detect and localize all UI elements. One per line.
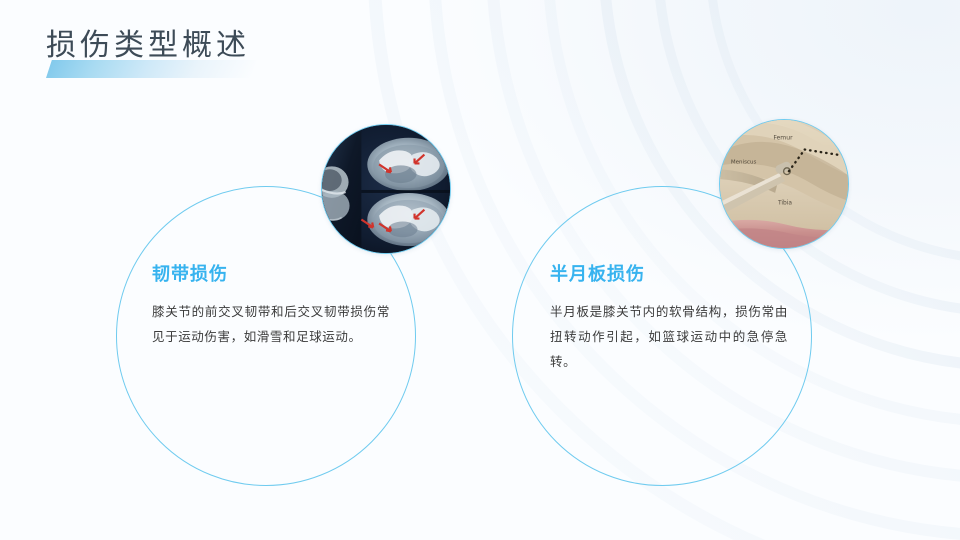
meniscus-injury-title: 半月板损伤	[550, 262, 800, 286]
meniscus-injury-body: 半月板是膝关节内的软骨结构，损伤常由扭转动作引起，如篮球运动中的急停急转。	[550, 300, 788, 375]
slide-canvas: 损伤类型概述	[0, 0, 960, 540]
ligament-injury-card: 韧带损伤 膝关节的前交叉韧带和后交叉韧带损伤常见于运动伤害，如滑雪和足球运动。	[152, 262, 402, 350]
knee-mri-scan-image	[321, 124, 451, 254]
page-title-group: 损伤类型概述	[46, 24, 250, 68]
ligament-injury-title: 韧带损伤	[152, 262, 402, 286]
page-title: 损伤类型概述	[46, 24, 250, 68]
svg-text:Meniscus: Meniscus	[731, 159, 757, 165]
meniscus-injury-card: 半月板损伤 半月板是膝关节内的软骨结构，损伤常由扭转动作引起，如篮球运动中的急停…	[550, 262, 800, 375]
svg-text:Femur: Femur	[773, 135, 793, 142]
knee-arthroscopy-image: Femur Meniscus Tibia	[719, 119, 849, 249]
ligament-injury-body: 膝关节的前交叉韧带和后交叉韧带损伤常见于运动伤害，如滑雪和足球运动。	[152, 300, 390, 350]
svg-text:Tibia: Tibia	[777, 201, 792, 207]
